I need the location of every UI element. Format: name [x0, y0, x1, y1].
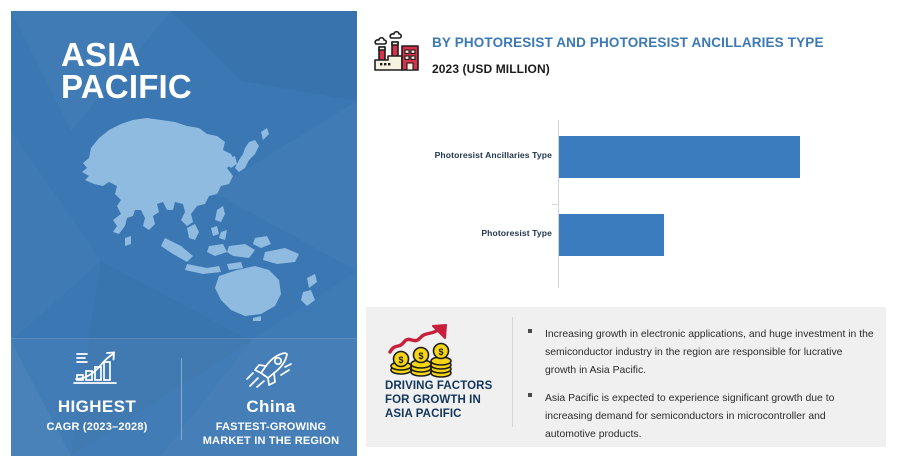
chart-title: BY PHOTORESIST AND PHOTORESIST ANCILLARI… [432, 35, 824, 50]
svg-text:$: $ [418, 351, 423, 361]
svg-text:$: $ [398, 355, 403, 365]
caption-line1: DRIVING FACTORS [385, 380, 492, 392]
fact-text: Increasing growth in electronic applicat… [545, 329, 874, 376]
bar-label-0: Photoresist Ancillaries Type [367, 150, 552, 160]
rocket-growth-icon [191, 346, 351, 388]
kpi-country-sub-line2: MARKET IN THE REGION [203, 435, 340, 447]
region-panel: ASIA PACIFIC [11, 11, 357, 456]
bullet-icon [528, 393, 532, 397]
chart-header: BY PHOTORESIST AND PHOTORESIST ANCILLARI… [372, 28, 872, 88]
page-title: ASIA PACIFIC [61, 39, 192, 103]
kpi-country-headline: China [191, 397, 351, 417]
infographic-root: ASIA PACIFIC [0, 0, 900, 456]
bar-1[interactable] [559, 214, 664, 256]
chart-axis-tick [552, 204, 558, 205]
kpi-country-sub-line1: FASTEST-GROWING [216, 421, 327, 433]
list-item: Asia Pacific is expected to experience s… [528, 388, 876, 443]
asia-pacific-map-icon [69, 106, 344, 321]
caption-line2: FOR GROWTH IN [385, 394, 481, 406]
bar-chart-growth-icon [17, 346, 177, 388]
driving-factors-caption: DRIVING FACTORS FOR GROWTH IN ASIA PACIF… [385, 379, 515, 421]
fact-text: Asia Pacific is expected to experience s… [545, 393, 834, 440]
kpi-highest-cagr: HIGHEST CAGR (2023–2028) [17, 346, 177, 434]
coins-growth-arrow-icon: $ $ $ [386, 322, 458, 380]
bar-label-1: Photoresist Type [367, 228, 552, 238]
kpi-highest-headline: HIGHEST [17, 397, 177, 417]
driving-factors-list: Increasing growth in electronic applicat… [528, 324, 876, 451]
driving-factors-panel: $ $ $ DRIVING FACTORS FOR GROWTH IN ASIA… [366, 307, 886, 447]
chart-subtitle: 2023 (USD MILLION) [432, 62, 550, 76]
bar-chart: Photoresist Ancillaries Type Photoresist… [372, 112, 872, 292]
kpi-divider [181, 358, 182, 440]
kpi-strip: HIGHEST CAGR (2023–2028) [11, 338, 357, 456]
list-item: Increasing growth in electronic applicat… [528, 324, 876, 379]
caption-line3: ASIA PACIFIC [385, 408, 462, 420]
region-title-line2: PACIFIC [61, 71, 192, 103]
kpi-fastest-growing-country: China FASTEST-GROWING MARKET IN THE REGI… [191, 346, 351, 448]
bullet-icon [528, 329, 532, 333]
factory-icon [372, 30, 422, 76]
svg-text:$: $ [438, 347, 443, 357]
bar-0[interactable] [559, 136, 800, 178]
kpi-country-sub: FASTEST-GROWING MARKET IN THE REGION [191, 420, 351, 448]
facts-divider [512, 317, 513, 427]
kpi-highest-sub: CAGR (2023–2028) [17, 420, 177, 434]
